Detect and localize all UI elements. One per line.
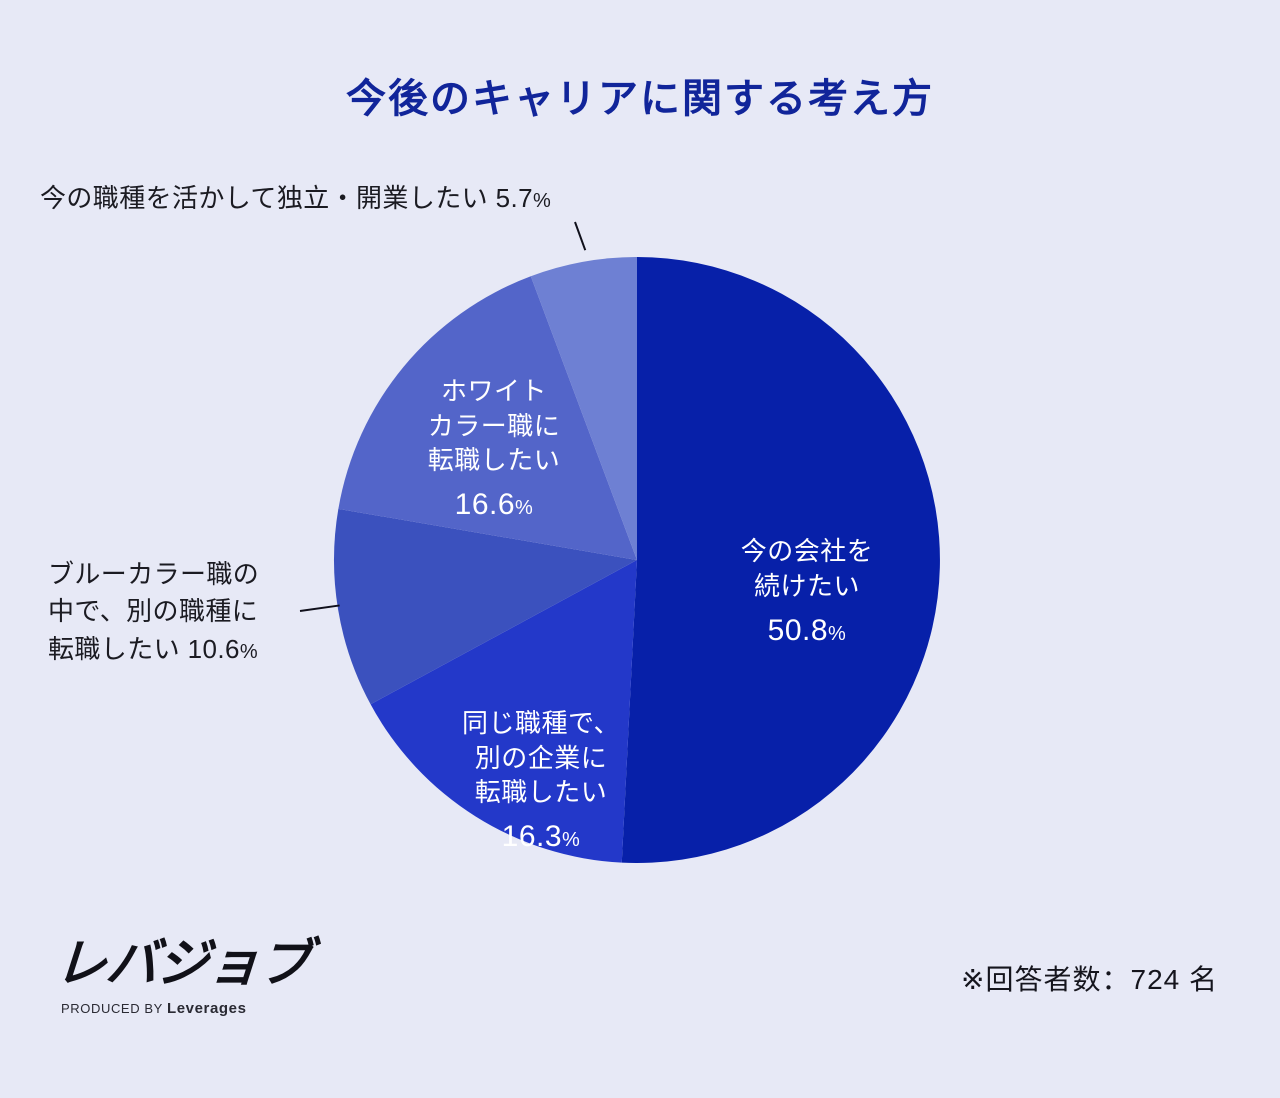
logo-tagline: PRODUCED BY Leverages [61, 1000, 355, 1017]
respondent-count: ※回答者数：724 名 [961, 958, 1218, 998]
brand-logo: レバジョブ PRODUCED BY Leverages [55, 938, 355, 1017]
slice-label-independent: 今の職種を活かして独立・開業したい 5.7% [40, 180, 660, 217]
logo-brand-name: Leverages [167, 1000, 247, 1017]
slice-label-continue: 今の会社を 続けたい 50.8% [698, 500, 916, 685]
slice-label-blue-collar: ブルーカラー職の 中で、別の職種に 転職したい 10.6% [48, 556, 348, 668]
slice-label-white-collar-text: ホワイト カラー職に 転職したい [428, 376, 561, 475]
slice-label-continue-percent: 50.8% [698, 611, 916, 651]
slice-label-same-job-percent: 16.3% [437, 817, 645, 857]
slice-label-independent-text: 今の職種を活かして独立・開業したい [40, 183, 488, 213]
slice-label-white-collar-percent: 16.6% [389, 485, 599, 525]
chart-page: 今後のキャリアに関する考え方 今の会社を 続けたい 50.8% 同じ職種で、 別… [0, 0, 1280, 1098]
pie-chart [0, 0, 1280, 1098]
slice-label-independent-percent: 5.7 [496, 183, 533, 213]
slice-label-white-collar: ホワイト カラー職に 転職したい 16.6% [389, 340, 599, 559]
slice-label-continue-text: 今の会社を 続けたい [741, 536, 874, 600]
slice-label-same-job-text: 同じ職種で、 別の企業に 転職したい [462, 708, 620, 807]
slice-label-blue-collar-percent: 10.6 [188, 634, 240, 664]
logo-wordmark: レバジョブ [53, 938, 357, 990]
slice-label-same-job: 同じ職種で、 別の企業に 転職したい 16.3% [437, 672, 645, 891]
pie-chart-svg [0, 0, 1280, 1098]
